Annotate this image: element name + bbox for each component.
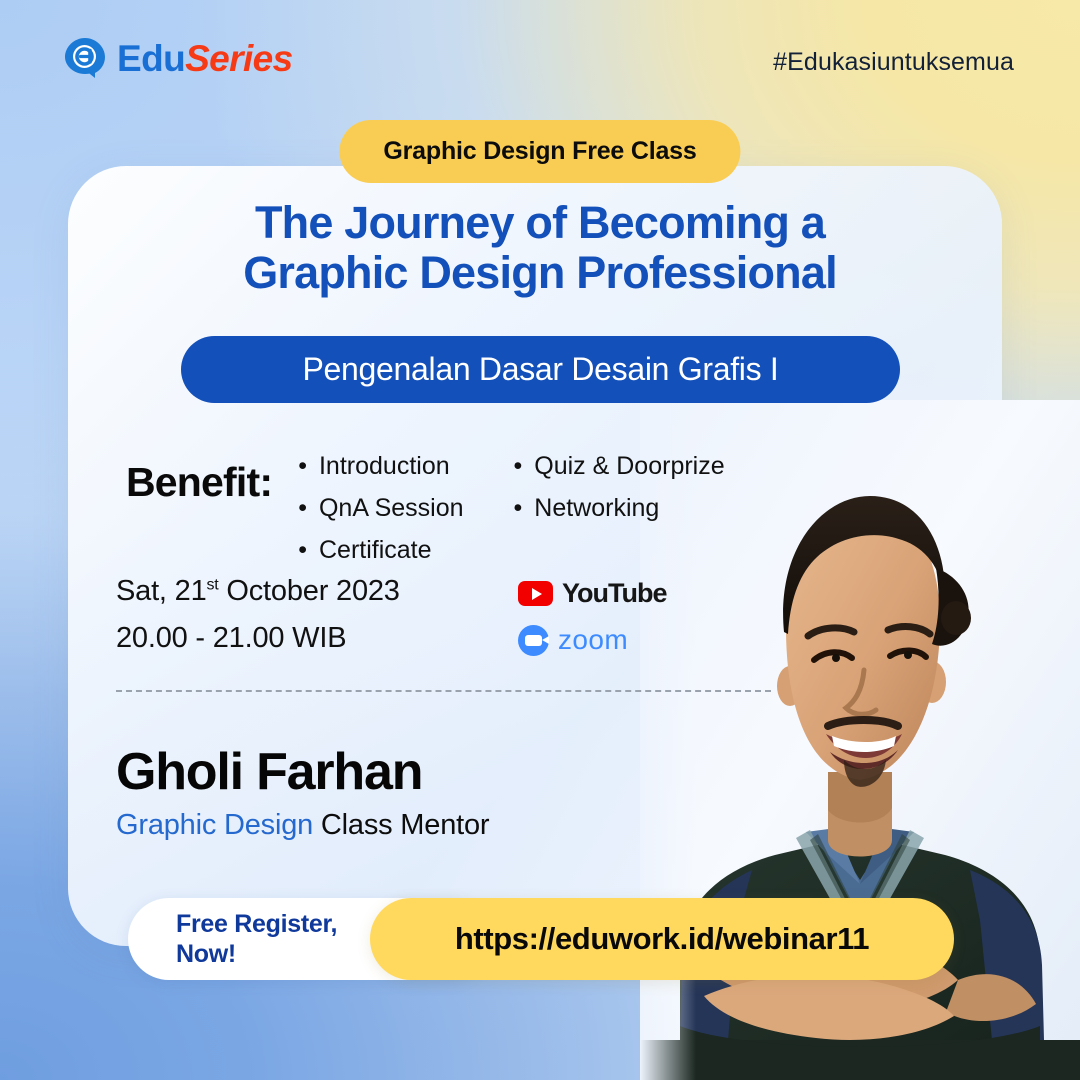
free-register-label: Free Register, Now! xyxy=(176,909,337,969)
speaker-role-rest: Class Mentor xyxy=(313,809,489,841)
free-register-line-2: Now! xyxy=(176,939,337,969)
speaker-name: Gholi Farhan xyxy=(116,745,489,800)
registration-url-button[interactable]: https://eduwork.id/webinar11 xyxy=(370,898,954,980)
benefits-heading: Benefit: xyxy=(126,462,272,503)
benefit-item: • Quiz & Doorprize xyxy=(514,450,725,483)
benefits-column-1: • Introduction • QnA Session • Certifica… xyxy=(298,440,463,567)
section-divider xyxy=(116,690,771,692)
benefit-item: • Introduction xyxy=(298,450,463,483)
eduseries-logo[interactable]: EduSeries xyxy=(64,36,293,80)
free-register-line-1: Free Register, xyxy=(176,909,337,939)
benefit-item-label: Networking xyxy=(534,492,659,525)
logo-text-edu: Edu xyxy=(117,38,185,79)
benefits-section: Benefit: • Introduction • QnA Session • … xyxy=(126,440,725,567)
page-title-line-2: Graphic Design Professional xyxy=(0,248,1080,298)
page-title: The Journey of Becoming a Graphic Design… xyxy=(0,198,1080,299)
benefit-item: • Certificate xyxy=(298,534,463,567)
bullet-icon: • xyxy=(514,496,523,521)
benefit-item-label: Quiz & Doorprize xyxy=(534,450,724,483)
youtube-icon xyxy=(518,581,553,606)
registration-url-label: https://eduwork.id/webinar11 xyxy=(455,921,869,957)
event-date-day: Sat, 21 xyxy=(116,575,207,607)
platform-youtube: YouTube xyxy=(518,578,666,609)
chat-bubble-e-icon xyxy=(64,36,108,80)
benefit-item-label: Introduction xyxy=(319,450,450,483)
logo-text-series: Series xyxy=(185,38,293,79)
class-category-badge: Graphic Design Free Class xyxy=(339,120,740,183)
benefit-item: • QnA Session xyxy=(298,492,463,525)
benefit-item-label: Certificate xyxy=(319,534,432,567)
schedule-section: Sat, 21st October 2023 20.00 - 21.00 WIB xyxy=(116,575,400,655)
benefits-column-2: • Quiz & Doorprize • Networking xyxy=(514,440,725,525)
logo-wordmark: EduSeries xyxy=(117,40,293,77)
session-subtitle-label: Pengenalan Dasar Desain Grafis I xyxy=(303,351,779,388)
platform-zoom: zoom xyxy=(518,624,666,656)
zoom-label: zoom xyxy=(558,624,628,656)
event-time: 20.00 - 21.00 WIB xyxy=(116,622,400,655)
poster-header: EduSeries #Edukasiuntuksemua xyxy=(0,0,1080,120)
benefit-item: • Networking xyxy=(514,492,725,525)
bullet-icon: • xyxy=(298,454,307,479)
event-date-month-year: October 2023 xyxy=(219,575,400,607)
bullet-icon: • xyxy=(514,454,523,479)
youtube-label: YouTube xyxy=(562,578,666,609)
bullet-icon: • xyxy=(298,496,307,521)
hashtag: #Edukasiuntuksemua xyxy=(773,48,1014,77)
platforms-section: YouTube zoom xyxy=(518,578,666,671)
bullet-icon: • xyxy=(298,538,307,563)
benefit-item-label: QnA Session xyxy=(319,492,464,525)
speaker-role-highlight: Graphic Design xyxy=(116,809,313,841)
page-title-line-1: The Journey of Becoming a xyxy=(255,197,825,248)
session-subtitle-pill: Pengenalan Dasar Desain Grafis I xyxy=(181,336,900,403)
speaker-section: Gholi Farhan Graphic Design Class Mentor xyxy=(116,745,489,842)
zoom-icon xyxy=(518,625,549,656)
speaker-role: Graphic Design Class Mentor xyxy=(116,809,489,842)
event-date: Sat, 21st October 2023 xyxy=(116,575,400,608)
event-date-ordinal: st xyxy=(207,576,219,593)
